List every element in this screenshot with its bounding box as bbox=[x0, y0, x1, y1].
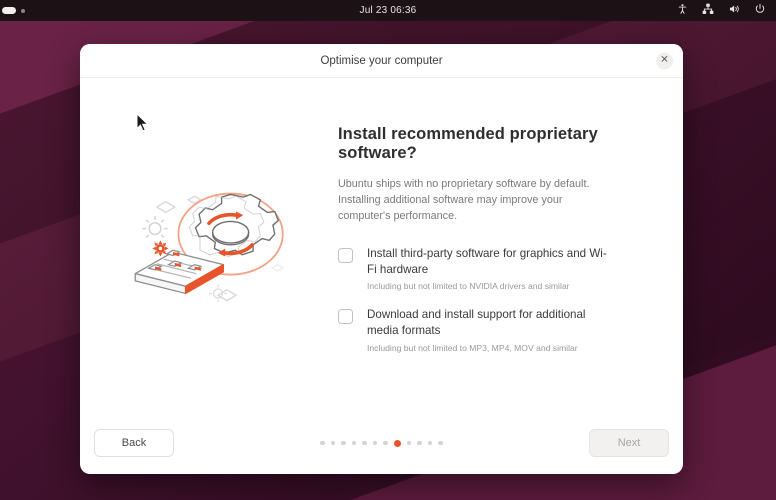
option-label: Install third-party software for graphic… bbox=[367, 246, 607, 277]
option-text-group: Install third-party software for graphic… bbox=[367, 246, 607, 291]
option-third-party-software[interactable]: Install third-party software for graphic… bbox=[338, 246, 647, 291]
step-dot bbox=[407, 441, 412, 446]
optimise-gear-illustration bbox=[119, 178, 299, 318]
step-dot bbox=[352, 441, 357, 446]
option-media-formats[interactable]: Download and install support for additio… bbox=[338, 307, 647, 352]
step-dot bbox=[320, 441, 325, 446]
illustration-column bbox=[80, 172, 338, 318]
step-dot bbox=[341, 441, 346, 446]
content-column: Install recommended proprietary software… bbox=[338, 121, 683, 368]
page-description: Ubuntu ships with no proprietary softwar… bbox=[338, 177, 606, 224]
power-icon[interactable] bbox=[754, 3, 766, 18]
step-dot bbox=[428, 441, 433, 446]
recording-pill-indicator[interactable] bbox=[2, 7, 16, 14]
step-dot bbox=[438, 441, 443, 446]
status-dot-icon[interactable] bbox=[21, 9, 25, 13]
dialog-body: Install recommended proprietary software… bbox=[80, 78, 683, 412]
step-dot bbox=[373, 441, 378, 446]
desktop-screen: Jul 23 06:36 bbox=[0, 0, 776, 500]
topbar-left-indicators bbox=[0, 7, 180, 14]
close-icon[interactable]: ✕ bbox=[656, 52, 673, 69]
system-topbar: Jul 23 06:36 bbox=[0, 0, 776, 21]
option-text-group: Download and install support for additio… bbox=[367, 307, 607, 352]
accessibility-icon[interactable] bbox=[677, 3, 688, 18]
checkbox-media-formats[interactable] bbox=[338, 309, 353, 324]
dialog-footer: Back Next bbox=[80, 412, 683, 474]
step-dot bbox=[331, 441, 336, 446]
option-label: Download and install support for additio… bbox=[367, 307, 607, 338]
network-icon[interactable] bbox=[702, 3, 714, 18]
step-dot-active bbox=[394, 440, 401, 447]
installer-dialog: Optimise your computer ✕ bbox=[80, 44, 683, 474]
back-button[interactable]: Back bbox=[94, 429, 174, 457]
topbar-clock-area[interactable]: Jul 23 06:36 bbox=[180, 5, 596, 16]
page-title: Install recommended proprietary software… bbox=[338, 125, 647, 163]
checkbox-third-party-software[interactable] bbox=[338, 248, 353, 263]
dialog-header: Optimise your computer ✕ bbox=[80, 44, 683, 78]
step-dot bbox=[417, 441, 422, 446]
topbar-status-icons bbox=[596, 3, 776, 18]
next-button[interactable]: Next bbox=[589, 429, 669, 457]
option-sublabel: Including but not limited to NVIDIA driv… bbox=[367, 281, 607, 291]
option-sublabel: Including but not limited to MP3, MP4, M… bbox=[367, 343, 607, 353]
step-dot bbox=[362, 441, 367, 446]
step-dot bbox=[383, 441, 388, 446]
dialog-title: Optimise your computer bbox=[320, 55, 442, 67]
clock-label: Jul 23 06:36 bbox=[360, 5, 417, 16]
volume-icon[interactable] bbox=[728, 3, 740, 18]
